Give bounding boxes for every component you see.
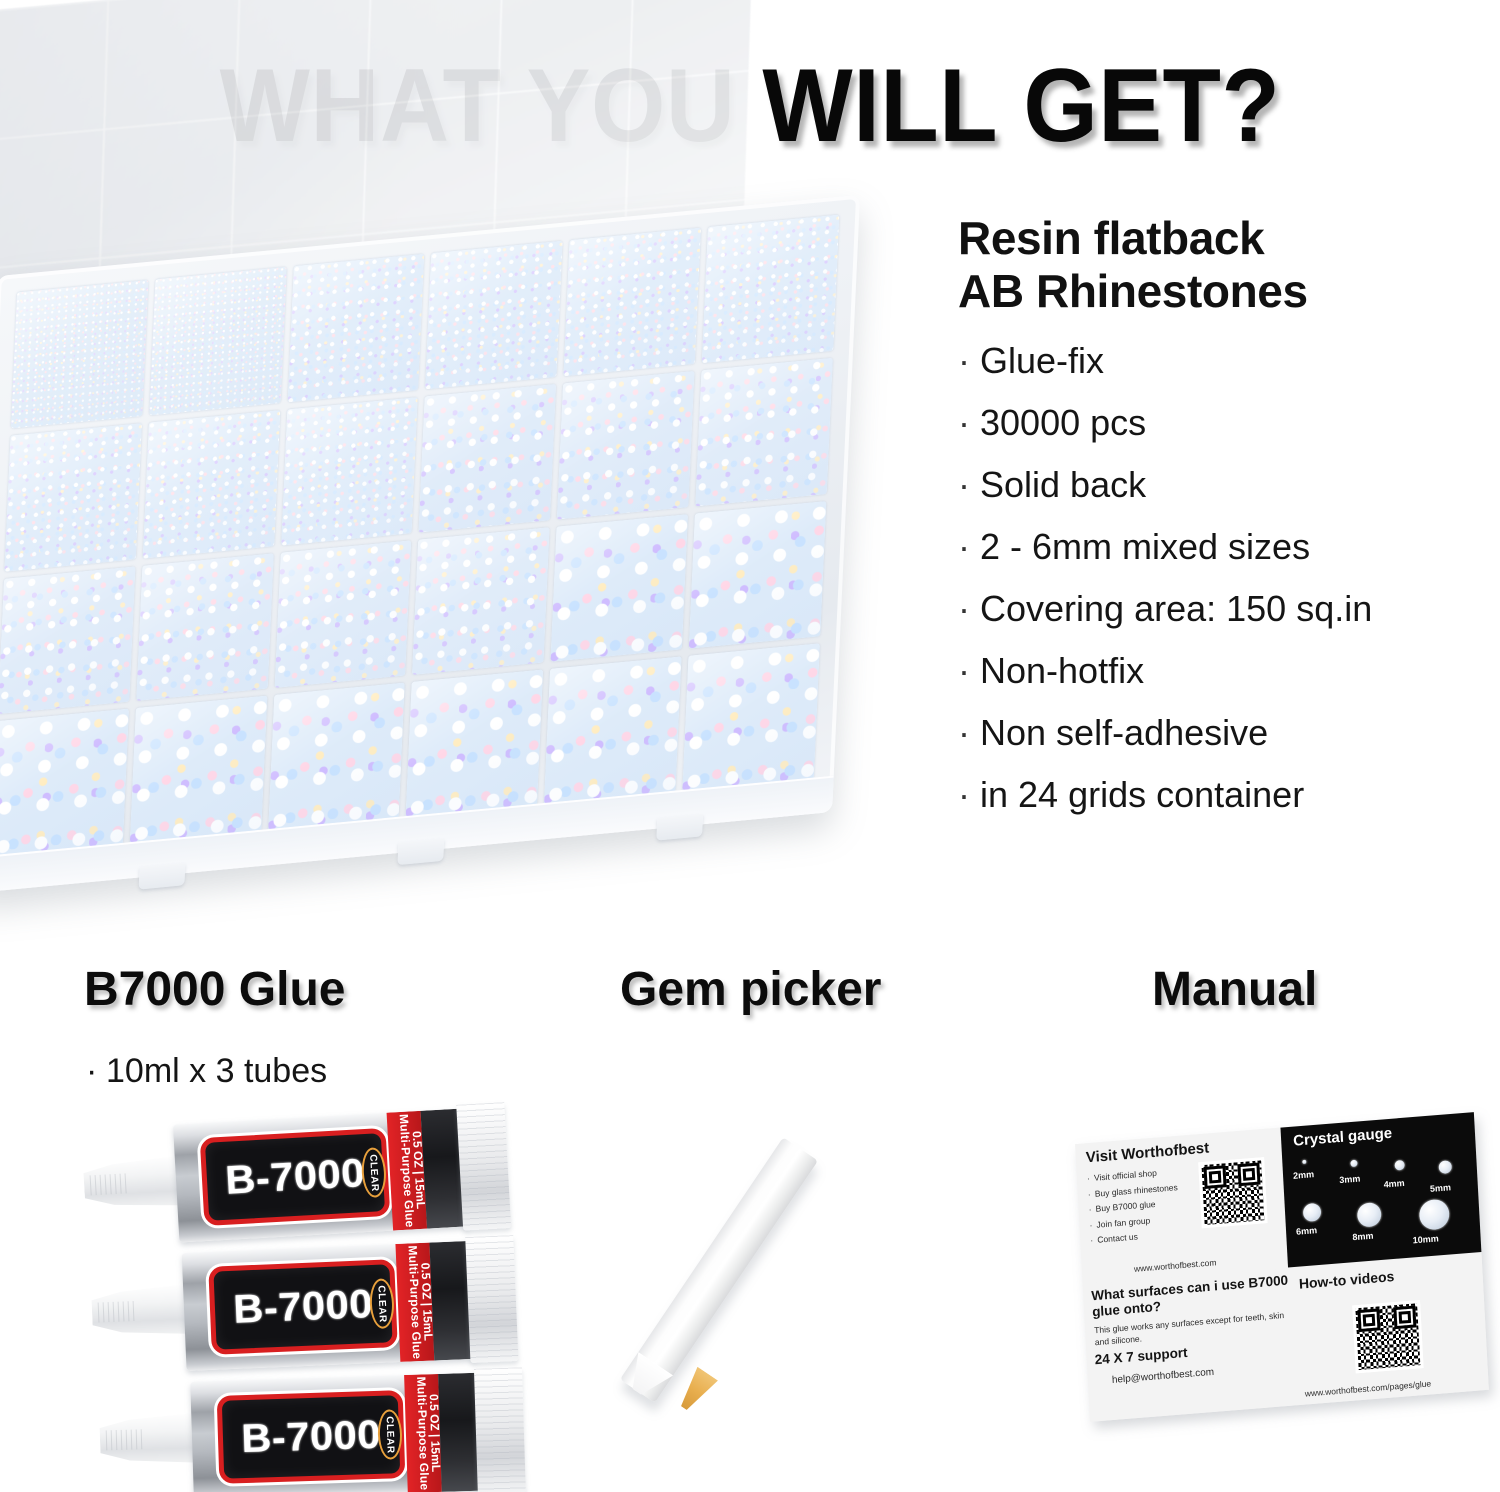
- grid-cell: [425, 241, 562, 389]
- spec-bullet-text: 2 - 6mm mixed sizes: [980, 526, 1310, 567]
- grid-cell: [689, 501, 826, 649]
- glue-tube: B-7000 CLEAR Multi-Purpose Glue 0.5 OZ |…: [90, 1239, 515, 1374]
- visit-url: www.worthofbest.com: [1134, 1257, 1217, 1274]
- tube-brand-text: B-7000: [241, 1412, 382, 1461]
- rhinestone-grid: [0, 215, 839, 858]
- container-latch: [397, 839, 444, 866]
- qr-code-icon: [1352, 1300, 1423, 1373]
- manual-quadrant-gauge: Crystal gauge 2mm 3mm 4mm 5mm 6mm 8mm 10…: [1280, 1112, 1481, 1267]
- glue-tube: B-7000 CLEAR Multi-Purpose Glue 0.5 OZ |…: [81, 1106, 507, 1247]
- spec-block: Resin flatback AB Rhinestones ·Glue-fix …: [958, 212, 1490, 826]
- gauge-dot: [1419, 1198, 1451, 1230]
- bullet-mark: ·: [958, 764, 980, 826]
- spec-bullet-list: ·Glue-fix ·30000 pcs ·Solid back ·2 - 6m…: [958, 330, 1490, 826]
- support-email: help@worthofbest.com: [1112, 1367, 1215, 1386]
- grid-cell: [11, 280, 148, 428]
- infographic-page: WHAT YOU WILL GET?: [0, 0, 1500, 1492]
- support-heading: 24 X 7 support: [1094, 1345, 1188, 1367]
- howto-url: www.worthofbest.com/pages/glue: [1305, 1378, 1432, 1398]
- gauge-heading: Crystal gauge: [1293, 1125, 1393, 1150]
- manual-quadrant-howto: How-to videos www.worthofbest.com/pages/…: [1288, 1253, 1489, 1405]
- pencil-wax-tip: [673, 1366, 720, 1416]
- gauge-label: 2mm: [1293, 1169, 1314, 1181]
- glue-subtext: ·10ml x 3 tubes: [86, 1052, 327, 1091]
- grid-cell: [149, 267, 286, 415]
- gauge-dot: [1394, 1160, 1405, 1171]
- bullet-mark: ·: [958, 330, 980, 392]
- grid-cell: [695, 358, 832, 506]
- glue-tube: B-7000 CLEAR Multi-Purpose Glue 0.5 OZ |…: [98, 1371, 521, 1492]
- container-latch: [656, 814, 703, 841]
- grid-cell: [682, 644, 819, 792]
- spec-bullet-text: Non-hotfix: [980, 650, 1144, 691]
- tube-label: B-7000: [217, 1390, 406, 1484]
- grid-cell: [0, 709, 129, 857]
- grid-cell: [136, 553, 273, 701]
- spec-bullet: ·Non-hotfix: [958, 640, 1490, 702]
- spec-heading-line2: AB Rhinestones: [958, 265, 1308, 317]
- bullet-mark: ·: [958, 702, 980, 764]
- grid-cell: [287, 254, 424, 402]
- grid-cell: [0, 566, 135, 714]
- grid-cell: [130, 696, 267, 844]
- gauge-dot: [1357, 1202, 1382, 1228]
- gauge-dot: [1303, 1203, 1322, 1222]
- manual-card: Visit Worthofbest ·Visit official shop ·…: [1075, 1112, 1489, 1422]
- bullet-mark: ·: [86, 1052, 106, 1091]
- spec-bullet-text: 30000 pcs: [980, 402, 1146, 443]
- visit-heading: Visit Worthofbest: [1085, 1139, 1209, 1166]
- grid-cell: [419, 384, 556, 532]
- container-body: [0, 195, 860, 894]
- gauge-dot: [1438, 1160, 1452, 1174]
- bullet-mark: ·: [958, 578, 980, 640]
- grid-cell: [702, 215, 839, 363]
- spec-bullet-text: Non self-adhesive: [980, 712, 1268, 753]
- grid-cell: [281, 397, 418, 545]
- spec-bullet: ·Non self-adhesive: [958, 702, 1490, 764]
- howto-heading: How-to videos: [1298, 1268, 1394, 1292]
- manual-section-heading: Manual: [1152, 962, 1317, 1017]
- container-latch: [139, 863, 186, 890]
- qr-code-icon: [1198, 1157, 1267, 1228]
- gem-picker-photo: [662, 1104, 962, 1434]
- tube-crimp-seal: [474, 1367, 526, 1492]
- manual-quadrant-visit: Visit Worthofbest ·Visit official shop ·…: [1075, 1128, 1287, 1284]
- tube-body: B-7000 CLEAR Multi-Purpose Glue 0.5 OZ |…: [182, 1241, 477, 1371]
- grid-cell: [268, 683, 405, 831]
- grid-cell: [557, 371, 694, 519]
- tube-body: B-7000 CLEAR Multi-Purpose Glue 0.5 OZ |…: [173, 1108, 469, 1242]
- grid-cell: [4, 423, 141, 571]
- gauge-label: 6mm: [1296, 1225, 1317, 1237]
- spec-bullet-text: Solid back: [980, 464, 1146, 505]
- spec-bullet-text: in 24 grids container: [980, 774, 1304, 815]
- tube-crimp-seal: [456, 1102, 511, 1230]
- spec-heading-line1: Resin flatback: [958, 212, 1264, 264]
- spec-bullet: ·2 - 6mm mixed sizes: [958, 516, 1490, 578]
- tube-body: B-7000 CLEAR Multi-Purpose Glue 0.5 OZ |…: [190, 1373, 484, 1492]
- tube-brand-text: B-7000: [224, 1151, 366, 1204]
- tube-crimp-seal: [465, 1235, 518, 1363]
- picker-section-heading: Gem picker: [620, 962, 881, 1017]
- spec-heading: Resin flatback AB Rhinestones: [958, 212, 1490, 318]
- spec-bullet: ·30000 pcs: [958, 392, 1490, 454]
- gauge-label: 4mm: [1383, 1178, 1404, 1190]
- manual-quadrant-surfaces: What surfaces can i use B7000 glue onto?…: [1083, 1269, 1295, 1422]
- gauge-label: 8mm: [1352, 1231, 1373, 1243]
- visit-item-list: ·Visit official shop ·Buy glass rhinesto…: [1087, 1164, 1181, 1249]
- grid-cell: [143, 410, 280, 558]
- spec-bullet-text: Covering area: 150 sq.in: [980, 588, 1372, 629]
- gauge-label: 3mm: [1339, 1173, 1360, 1185]
- tube-volume-text: 0.5 OZ | 15mL: [418, 1262, 435, 1341]
- spec-bullet: ·Covering area: 150 sq.in: [958, 578, 1490, 640]
- bullet-mark: ·: [958, 454, 980, 516]
- bullet-mark: ·: [958, 516, 980, 578]
- glue-section-heading: B7000 Glue: [84, 962, 345, 1017]
- gauge-dot: [1350, 1160, 1357, 1168]
- tube-volume-text: 0.5 OZ | 15mL: [427, 1394, 443, 1472]
- rhinestone-container-photo: [0, 0, 950, 930]
- glue-subtext-label: 10ml x 3 tubes: [106, 1052, 327, 1090]
- bullet-mark: ·: [958, 392, 980, 454]
- gauge-label: 5mm: [1430, 1182, 1451, 1194]
- grid-cell: [406, 670, 543, 818]
- pencil-body: [620, 1137, 818, 1403]
- tube-brand-text: B-7000: [232, 1282, 373, 1333]
- grid-cell: [551, 514, 688, 662]
- gauge-dot: [1302, 1160, 1306, 1164]
- gauge-label: 10mm: [1412, 1233, 1438, 1245]
- spec-bullet: ·Solid back: [958, 454, 1490, 516]
- grid-cell: [544, 657, 681, 805]
- bullet-mark: ·: [958, 640, 980, 702]
- grid-cell: [564, 228, 701, 376]
- spec-bullet-text: Glue-fix: [980, 340, 1104, 381]
- grid-cell: [413, 527, 550, 675]
- grid-cell: [274, 540, 411, 688]
- spec-bullet: ·Glue-fix: [958, 330, 1490, 392]
- spec-bullet: ·in 24 grids container: [958, 764, 1490, 826]
